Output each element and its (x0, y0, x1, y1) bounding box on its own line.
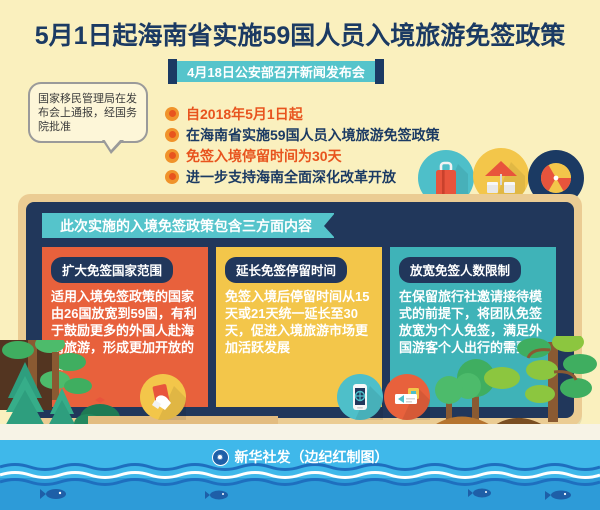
footer-credit: ✹ 新华社发（边纪红制图） (0, 447, 600, 467)
bullet-dot-icon (165, 170, 179, 184)
list-item: 在海南省实施59国人员入境旅游免签政策 (165, 124, 440, 145)
bullet-label: 在海南省实施59国人员入境旅游免签政策 (186, 125, 440, 145)
fish-icon (40, 486, 70, 502)
xinhua-seal-icon: ✹ (212, 449, 229, 466)
wave-line (0, 477, 600, 487)
card-title: 延长免签停留时间 (225, 257, 347, 283)
fish-icon (205, 488, 231, 502)
mobile-phone-icon (337, 374, 383, 420)
bullet-label: 免签入境停留时间为30天 (186, 146, 342, 166)
board-heading: 此次实施的入境免签政策包含三方面内容 (42, 213, 334, 238)
callout-text: 国家移民管理局在发布会上通报，经国务院批准 (38, 92, 139, 134)
passport-hand-icon (140, 374, 186, 420)
infographic-poster: 5月1日起海南省实施59国人员入境旅游免签政策 4月18日公安部召开新闻发布会 … (0, 0, 600, 510)
list-item: 自2018年5月1日起 (165, 103, 440, 124)
bullet-dot-icon (165, 128, 179, 142)
list-item: 进一步支持海南全面深化改革开放 (165, 166, 440, 187)
banner-label: 4月18日公安部召开新闻发布会 (187, 62, 365, 81)
bullet-label: 自2018年5月1日起 (186, 104, 303, 124)
credit-label: 新华社发（边纪红制图） (235, 447, 389, 467)
banner-cap-right (375, 59, 384, 84)
page-title: 5月1日起海南省实施59国人员入境旅游免签政策 (0, 16, 600, 52)
bubble-tail-fill (104, 139, 121, 150)
card-body: 免签入境后停留时间从15天或21天统一延长至30天，促进入境旅游市场更加活跃发展 (225, 288, 373, 356)
banner-cap-left (168, 59, 177, 84)
fish-icon (468, 486, 494, 500)
bullet-label: 进一步支持海南全面深化改革开放 (186, 167, 396, 187)
bullet-dot-icon (165, 107, 179, 121)
press-conference-banner: 4月18日公安部召开新闻发布会 (168, 58, 384, 85)
bullet-dot-icon (165, 149, 179, 163)
fish-icon (545, 488, 575, 503)
callout-bubble: 国家移民管理局在发布会上通报，经国务院批准 (28, 82, 148, 143)
list-item: 免签入境停留时间为30天 (165, 145, 440, 166)
card-title: 放宽免签人数限制 (399, 257, 521, 283)
card-title: 扩大免签国家范围 (51, 257, 173, 283)
key-points-list: 自2018年5月1日起 在海南省实施59国人员入境旅游免签政策 免签入境停留时间… (165, 103, 440, 187)
plane-ticket-icon (384, 374, 430, 420)
